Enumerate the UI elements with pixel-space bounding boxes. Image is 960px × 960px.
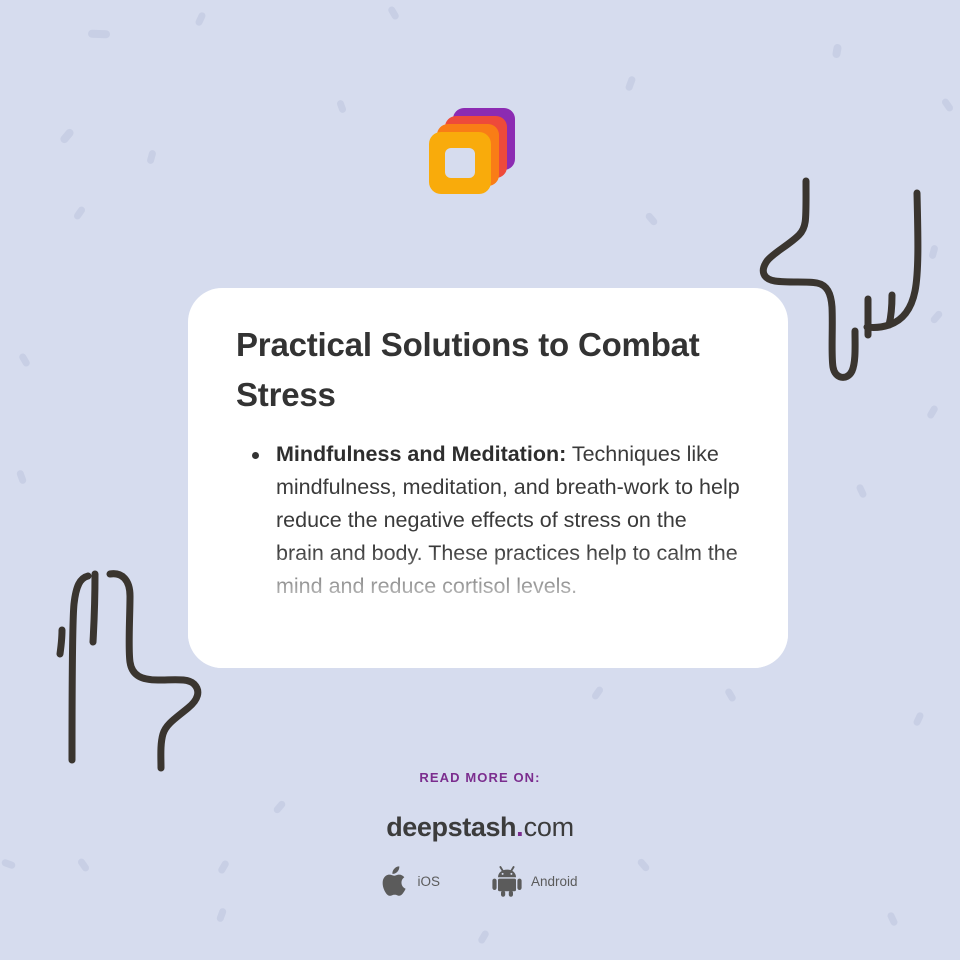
speckle: [16, 469, 27, 485]
store-label-android: Android: [531, 874, 578, 889]
speckle: [855, 483, 867, 499]
brand-dot: .: [516, 812, 524, 842]
list-item: Mindfulness and Meditation: Techniques l…: [236, 438, 740, 603]
store-label-ios: iOS: [417, 874, 440, 889]
brand-name: deepstash: [386, 812, 516, 842]
apple-icon: [382, 866, 408, 897]
speckle: [336, 99, 347, 114]
card-inner: Practical Solutions to Combat Stress Min…: [188, 288, 788, 603]
deepstash-logo[interactable]: [425, 100, 521, 196]
store-badge-ios[interactable]: iOS: [382, 866, 440, 897]
bullet-lead: Mindfulness and Meditation:: [276, 442, 566, 466]
speckle: [591, 685, 605, 700]
speckle: [926, 404, 939, 420]
speckle: [941, 97, 955, 112]
speckle: [928, 244, 938, 259]
speckle: [912, 711, 924, 727]
logo-layer-amber-icon: [429, 132, 491, 194]
content-card[interactable]: Practical Solutions to Combat Stress Min…: [188, 288, 788, 668]
page-title: Practical Solutions to Combat Stress: [236, 320, 740, 420]
speckle: [216, 907, 227, 923]
speckle: [832, 43, 842, 58]
store-badges: iOS: [0, 866, 960, 897]
speckle: [194, 11, 206, 27]
read-more-label: READ MORE ON:: [0, 770, 960, 785]
speckle: [477, 929, 490, 945]
speckle: [387, 5, 400, 21]
speckle: [18, 352, 31, 368]
speckle: [59, 127, 75, 144]
speckle: [73, 205, 87, 220]
speckle: [625, 75, 637, 91]
speckle: [644, 211, 658, 226]
store-badge-android[interactable]: Android: [492, 866, 578, 897]
speckle: [929, 309, 943, 324]
brand-tld: com: [524, 812, 574, 842]
speckle: [146, 149, 156, 164]
speckle: [886, 911, 898, 927]
bullet-list: Mindfulness and Meditation: Techniques l…: [236, 438, 740, 603]
speckle: [88, 30, 110, 39]
speckle: [724, 687, 737, 703]
android-icon: [492, 866, 522, 897]
poster-canvas: Practical Solutions to Combat Stress Min…: [0, 0, 960, 960]
brand-wordmark[interactable]: deepstash.com: [0, 812, 960, 843]
